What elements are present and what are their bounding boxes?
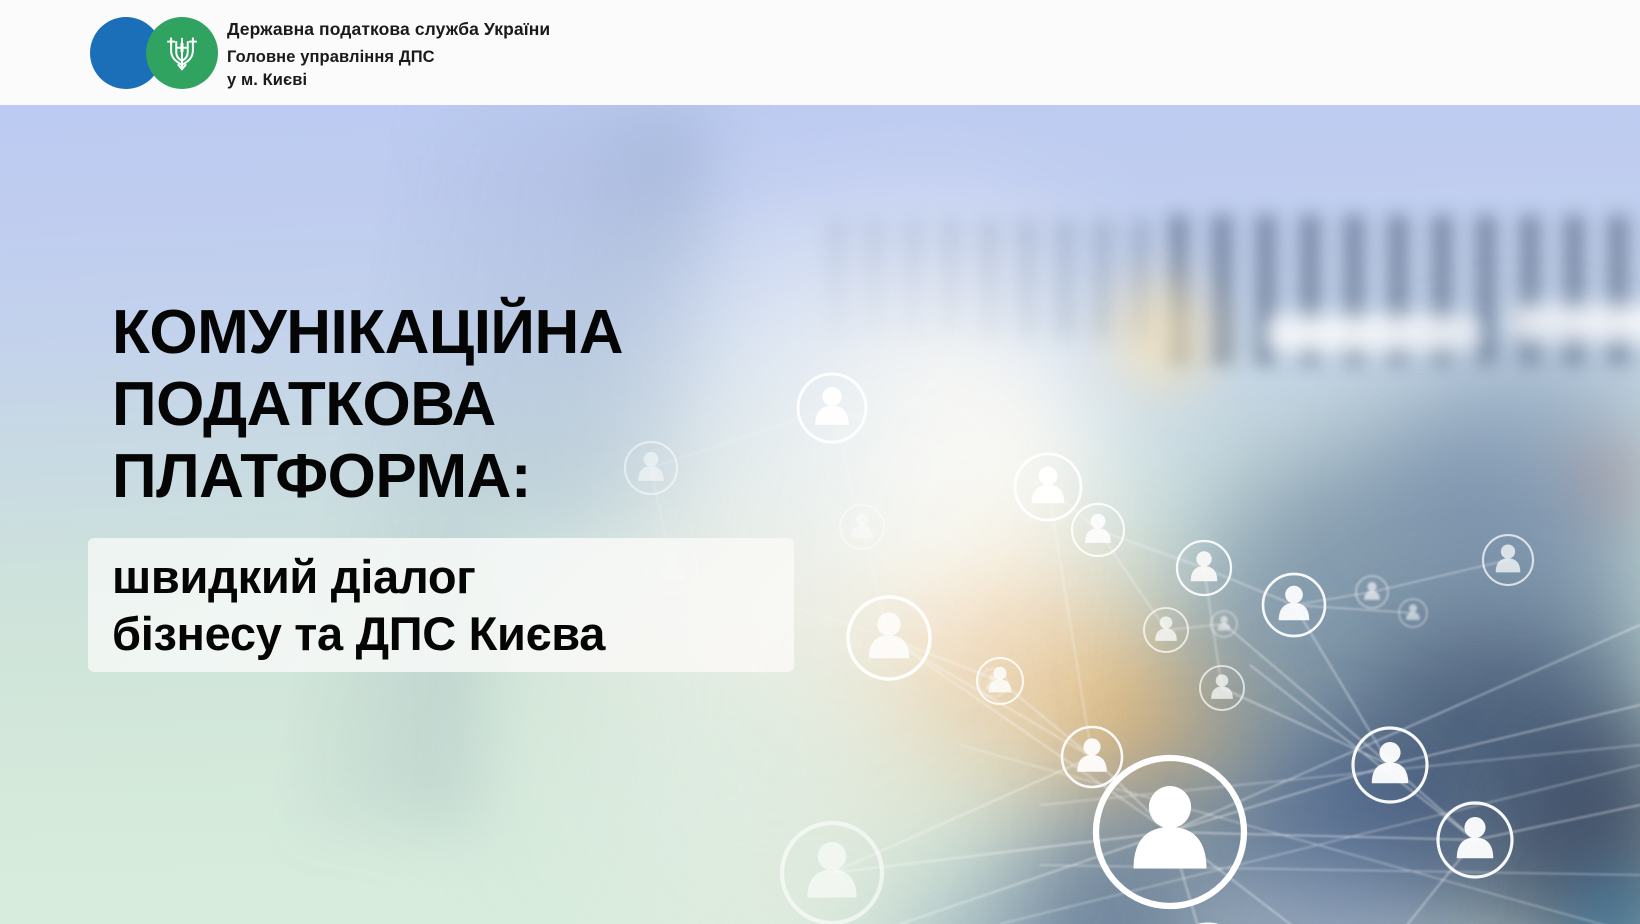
hero-title: КОМУНІКАЦІЙНА ПОДАТКОВА ПЛАТФОРМА: [112, 297, 792, 513]
hero-copy: КОМУНІКАЦІЙНА ПОДАТКОВА ПЛАТФОРМА: швидк… [0, 105, 1640, 924]
organization-logo[interactable] [90, 17, 218, 89]
org-name-location: у м. Києві [227, 69, 927, 92]
hero-subtitle-line-2: бізнесу та ДПС Києва [112, 605, 770, 662]
hero-subtitle-box: швидкий діалог бізнесу та ДПС Києва [88, 538, 794, 672]
hero-title-line-3: ПЛАТФОРМА: [112, 441, 792, 513]
hero-title-line-1: КОМУНІКАЦІЙНА [112, 297, 792, 369]
org-name-department: Головне управління ДПС [227, 46, 927, 69]
org-name-primary: Державна податкова служба України [227, 16, 927, 42]
ukraine-trident-icon [164, 33, 200, 75]
banner-stage: КОМУНІКАЦІЙНА ПОДАТКОВА ПЛАТФОРМА: швидк… [0, 0, 1640, 924]
organization-name-block: Державна податкова служба України Головн… [227, 16, 927, 92]
hero-title-line-2: ПОДАТКОВА [112, 369, 792, 441]
hero-section: КОМУНІКАЦІЙНА ПОДАТКОВА ПЛАТФОРМА: швидк… [0, 105, 1640, 924]
hero-subtitle-line-1: швидкий діалог [112, 548, 770, 605]
site-header: Державна податкова служба України Головн… [0, 0, 1640, 105]
